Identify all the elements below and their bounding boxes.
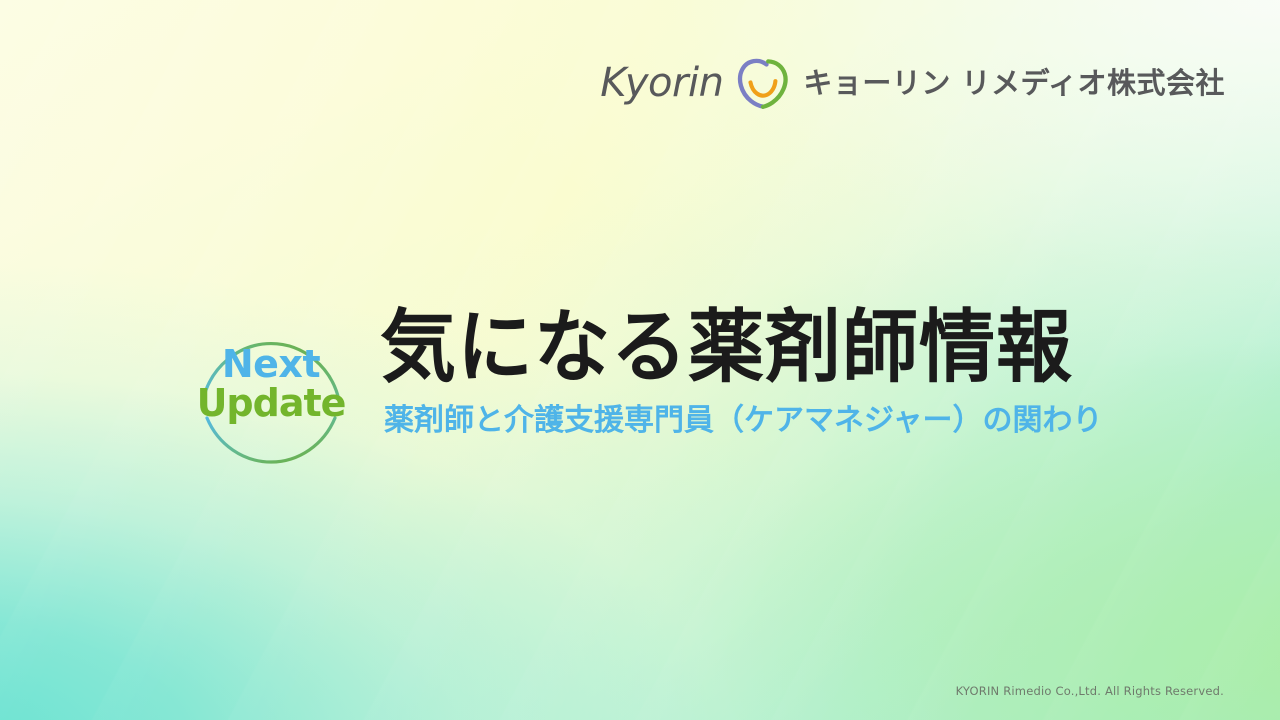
page-subtitle: 薬剤師と介護支援専門員（ケアマネジャー）の関わり [384, 404, 1103, 437]
title-slide: Kyorin キョーリン リメディオ株式会社 [0, 0, 1280, 720]
title-block: Next Update 気になる薬剤師情報 薬剤師と介護支援専門員（ケアマネジャ… [196, 300, 1103, 474]
company-name-japanese: キョーリン リメディオ株式会社 [803, 69, 1225, 98]
page-title: 気になる薬剤師情報 [380, 304, 1103, 390]
title-text-stack: 気になる薬剤師情報 薬剤師と介護支援専門員（ケアマネジャー）の関わり [380, 300, 1103, 437]
badge-text: Next Update [196, 346, 346, 423]
next-update-badge: Next Update [196, 308, 346, 474]
company-logo-lockup: Kyorin キョーリン リメディオ株式会社 [600, 57, 1225, 109]
kyorin-wordmark: Kyorin [600, 63, 735, 103]
copyright-notice: KYORIN Rimedio Co.,Ltd. All Rights Reser… [956, 684, 1224, 698]
kyorin-heart-mark-icon [735, 57, 791, 109]
badge-line-update: Update [196, 384, 346, 423]
badge-line-next: Next [196, 346, 346, 382]
